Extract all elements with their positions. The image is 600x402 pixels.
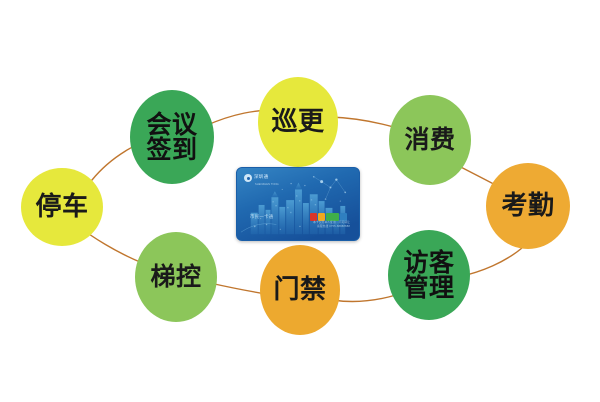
logo-block-red (310, 213, 317, 221)
smart-card: 深圳通 SHENZHEN TONG 市民一卡通 本卡仅限本人使用 · 不可转让 … (236, 167, 360, 241)
node-payment[interactable]: 消费 (389, 95, 471, 185)
node-label-elevator: 梯控 (150, 264, 201, 290)
node-patrol[interactable]: 巡更 (258, 77, 338, 167)
card-brand-subtext: SHENZHEN TONG (255, 183, 279, 186)
card-wordmark: 市民一卡通 (250, 214, 273, 220)
node-label-visitor: 访客 管理 (403, 250, 454, 301)
node-attendance[interactable]: 考勤 (486, 163, 570, 249)
node-elevator[interactable]: 梯控 (135, 232, 217, 322)
node-access[interactable]: 门禁 (260, 245, 340, 335)
node-label-parking: 停车 (35, 194, 88, 221)
connector-access-to-elevator (210, 283, 266, 294)
diagram-canvas: 停车会议 签到巡更消费考勤访客 管理门禁梯控 (0, 0, 600, 402)
node-label-patrol: 巡更 (271, 109, 324, 136)
logo-block-green (326, 213, 339, 221)
node-meeting[interactable]: 会议 签到 (130, 90, 214, 184)
card-brand-mark-icon (244, 174, 252, 182)
card-fine-print: 本卡仅限本人使用 · 不可转让 客服热线 0755-88888888 (313, 221, 350, 229)
node-visitor[interactable]: 访客 管理 (388, 230, 470, 320)
node-label-meeting: 会议 签到 (146, 112, 197, 163)
node-label-attendance: 考勤 (501, 193, 554, 220)
card-partner-logo-icon (310, 213, 347, 221)
card-fine-print-line: 客服热线 0755-88888888 (313, 225, 350, 229)
connector-visitor-to-access (332, 295, 396, 302)
node-label-access: 门禁 (273, 277, 326, 304)
node-parking[interactable]: 停车 (21, 168, 103, 246)
card-brand-text: 深圳通 (254, 176, 268, 181)
logo-block-blue (340, 213, 347, 221)
logo-block-orange (318, 213, 325, 221)
node-label-payment: 消费 (404, 127, 455, 153)
card-brand: 深圳通 SHENZHEN TONG (244, 174, 268, 182)
